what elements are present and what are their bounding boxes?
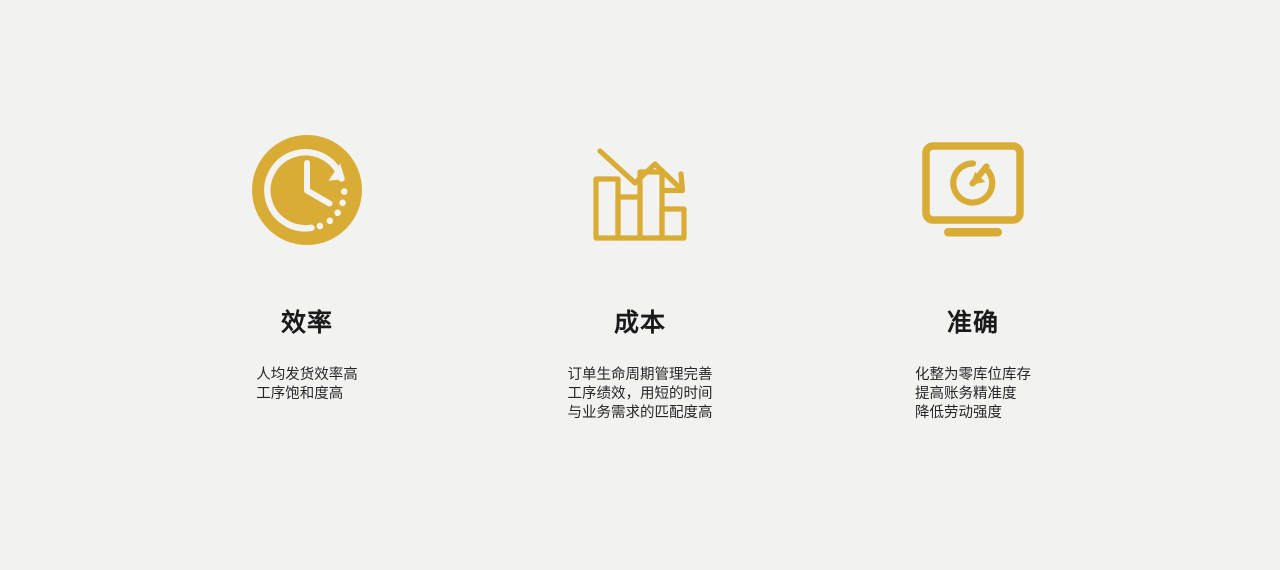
feature-desc-line: 工序绩效，用短的时间 [568,385,713,404]
feature-card-efficiency[interactable]: 效率 人均发货效率高 工序饱和度高 [141,0,474,404]
clock-circle-icon [250,130,364,250]
feature-title: 准确 [947,308,999,338]
feature-title: 效率 [281,308,333,338]
feature-desc-line: 订单生命周期管理完善 [568,366,713,385]
feature-description: 化整为零库位库存 提高账务精准度 降低劳动强度 [915,366,1031,423]
feature-desc-line: 降低劳动强度 [915,404,1031,423]
feature-desc-line: 与业务需求的匹配度高 [568,404,713,423]
features-section: 效率 人均发货效率高 工序饱和度高 [0,0,1280,570]
feature-title: 成本 [614,308,666,338]
feature-card-cost[interactable]: 成本 订单生命周期管理完善 工序绩效，用短的时间 与业务需求的匹配度高 [474,0,807,423]
feature-description: 人均发货效率高 工序饱和度高 [256,366,358,404]
feature-desc-line: 人均发货效率高 [256,366,358,385]
feature-description: 订单生命周期管理完善 工序绩效，用短的时间 与业务需求的匹配度高 [568,366,713,423]
features-row: 效率 人均发货效率高 工序饱和度高 [0,0,1280,423]
declining-bar-chart-icon [587,130,693,250]
feature-card-accuracy[interactable]: 准确 化整为零库位库存 提高账务精准度 降低劳动强度 [807,0,1140,423]
feature-desc-line: 化整为零库位库存 [915,366,1031,385]
monitor-refresh-icon [917,130,1029,250]
feature-desc-line: 提高账务精准度 [915,385,1031,404]
feature-desc-line: 工序饱和度高 [256,385,358,404]
